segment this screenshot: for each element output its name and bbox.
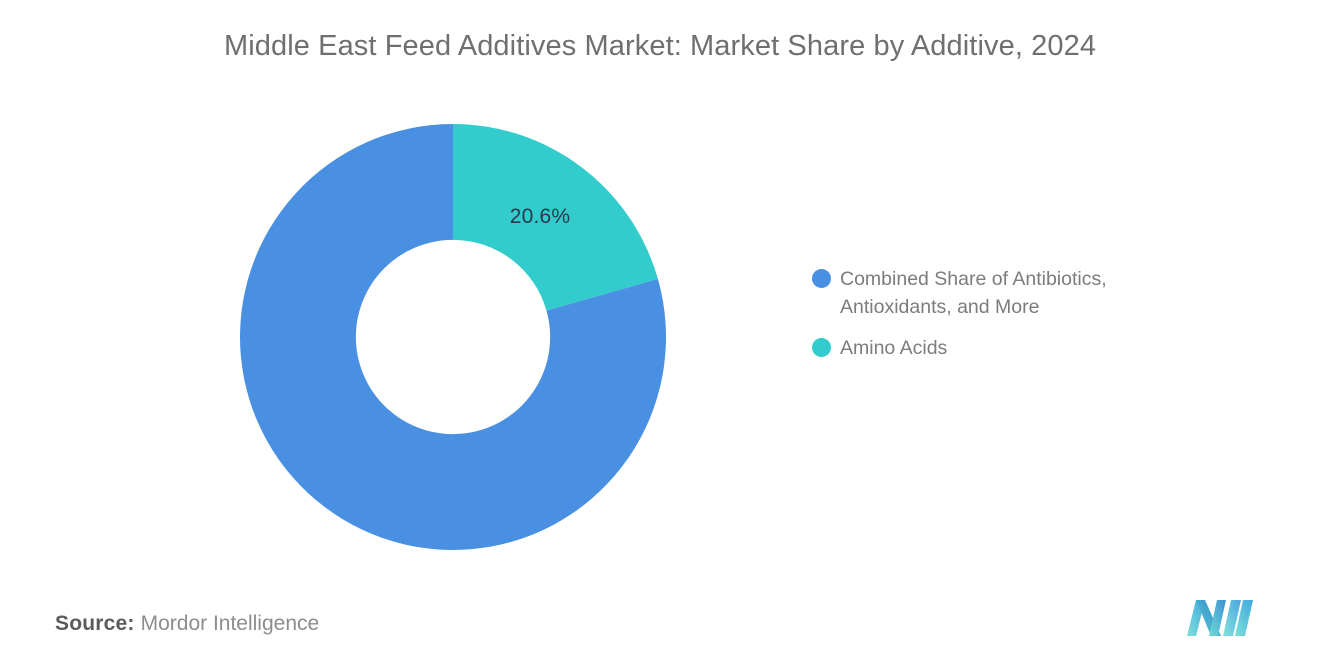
- legend-color-swatch-icon: [812, 269, 831, 288]
- legend-color-swatch-icon: [812, 338, 831, 357]
- legend-item-label: Combined Share of Antibiotics, Antioxida…: [840, 266, 1170, 321]
- legend-item-combined-share[interactable]: Combined Share of Antibiotics, Antioxida…: [812, 266, 1212, 321]
- donut-chart-svg: [238, 122, 668, 552]
- donut-slices: [240, 124, 666, 550]
- brand-logo-svg: [1185, 598, 1257, 638]
- source-attribution: Source:Mordor Intelligence: [55, 612, 319, 636]
- legend-item-amino-acids[interactable]: Amino Acids: [812, 335, 1212, 363]
- chart-legend: Combined Share of Antibiotics, Antioxida…: [812, 266, 1212, 377]
- page-title: Middle East Feed Additives Market: Marke…: [0, 30, 1320, 63]
- source-value: Mordor Intelligence: [141, 612, 320, 635]
- donut-slice-label-amino-acids: 20.6%: [493, 205, 587, 229]
- source-label: Source:: [55, 612, 135, 635]
- donut-chart: [238, 122, 668, 552]
- mordor-intelligence-logo-icon: [1185, 598, 1257, 638]
- legend-item-label: Amino Acids: [840, 335, 947, 363]
- chart-canvas: Middle East Feed Additives Market: Marke…: [0, 0, 1320, 665]
